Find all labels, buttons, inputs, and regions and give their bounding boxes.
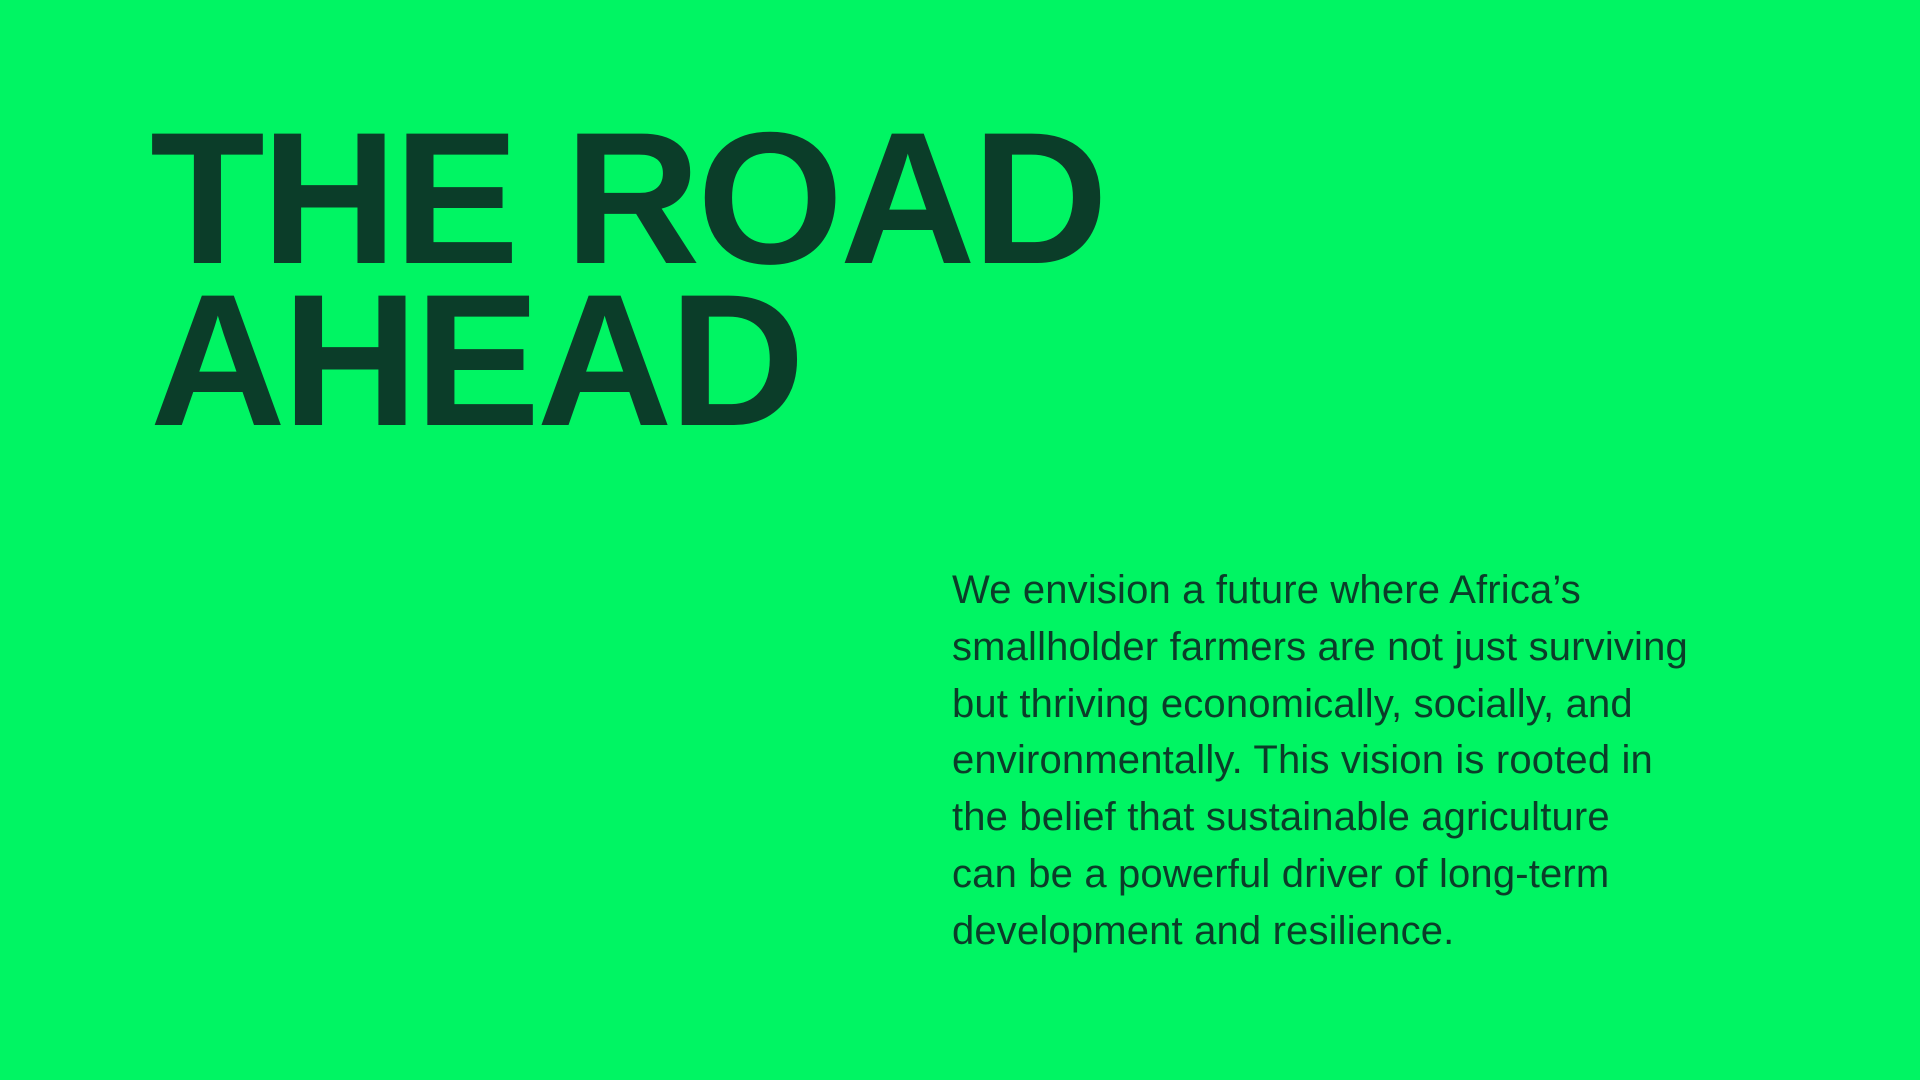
vision-statement-block: We envision a future where Africa’s smal… [952,562,1842,960]
vision-line-6: can be a powerful driver of long-term [952,846,1842,903]
slide-canvas: THE ROAD AHEAD We envision a future wher… [0,0,1920,1080]
vision-statement-text: We envision a future where Africa’s smal… [952,562,1842,960]
vision-line-5: the belief that sustainable agriculture [952,789,1842,846]
vision-line-3: but thriving economically, socially, and [952,676,1842,733]
vision-line-1: We envision a future where Africa’s [952,562,1842,619]
page-title: THE ROAD AHEAD [150,118,1570,441]
vision-line-7: development and resilience. [952,903,1842,960]
page-title-line-2: AHEAD [150,280,1570,442]
vision-line-2: smallholder farmers are not just survivi… [952,619,1842,676]
vision-line-4: environmentally. This vision is rooted i… [952,732,1842,789]
